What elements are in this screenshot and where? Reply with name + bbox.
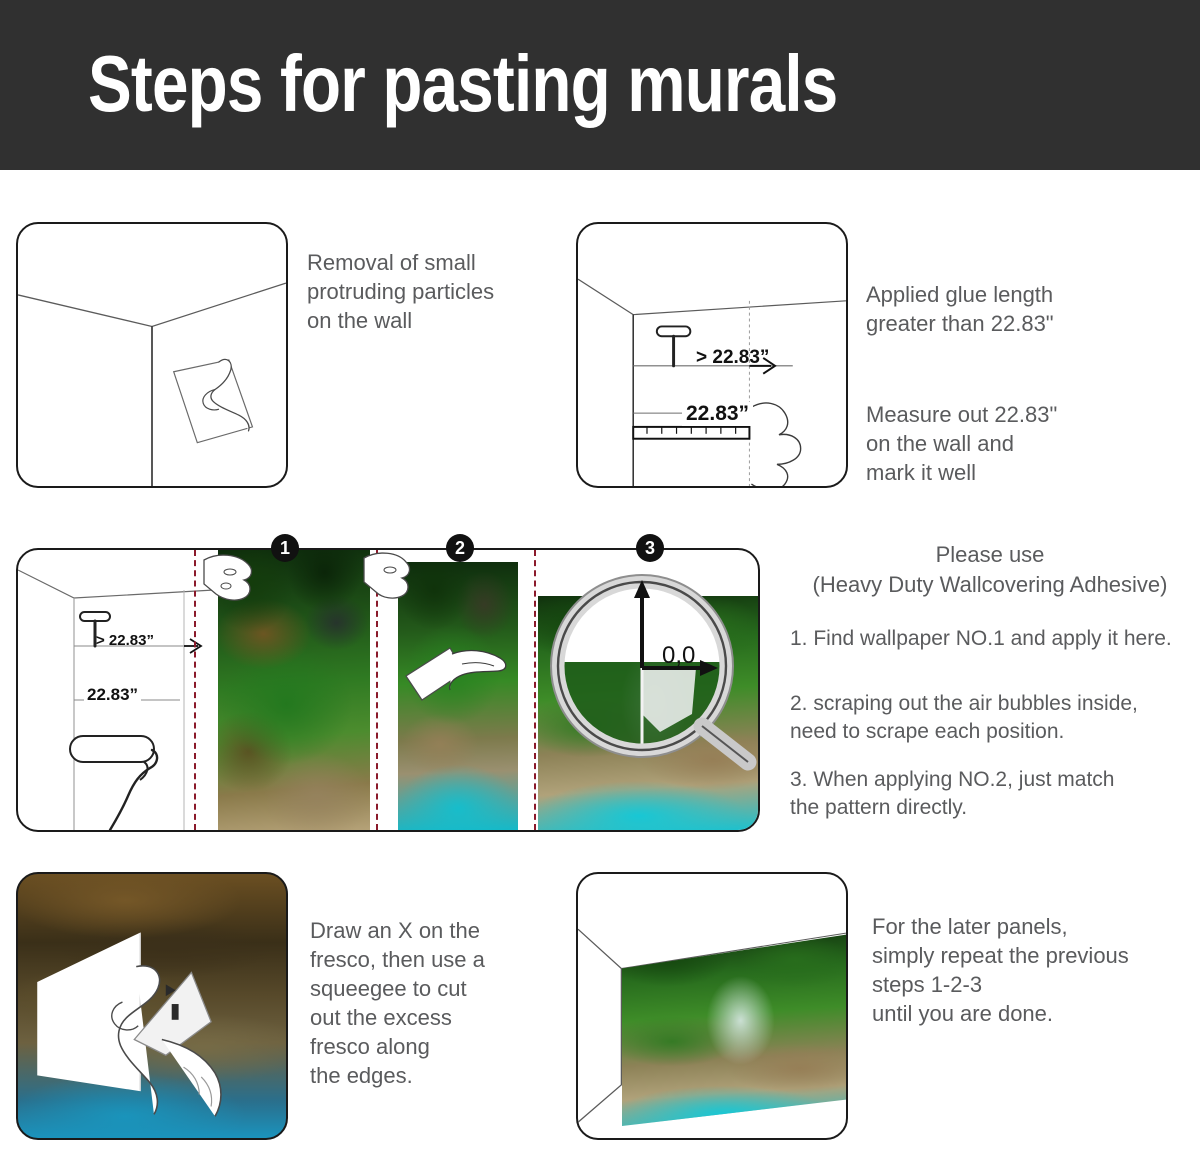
step-2-caption-glue: Applied glue length greater than 22.83" [866,280,1166,338]
adhesive-heading: Please use [790,540,1190,570]
hand-with-scraper-icon [18,224,286,486]
label-measure: 22.83” [682,402,753,426]
seam-line-1 [194,550,196,830]
instruction-item-3: 3. When applying NO.2, just match the pa… [790,766,1190,822]
step-5-caption: For the later panels, simply repeat the … [872,912,1200,1028]
instruction-item-2: 2. scraping out the air bubbles inside, … [790,690,1190,746]
label-greater-than: > 22.83” [96,632,154,649]
origin-label: 0,0 [662,642,695,670]
hand-with-squeegee-icon [18,874,286,1138]
instruction-item-1: 1. Find wallpaper NO.1 and apply it here… [790,625,1190,653]
header-bar: Steps for pasting murals [0,0,1200,170]
page-title: Steps for pasting murals [88,36,837,132]
label-measure: 22.83” [84,685,141,705]
step-1-illustration [16,222,288,488]
step-2-illustration: > 22.83” 22.83” [576,222,848,488]
label-greater-than: > 22.83” [696,347,769,369]
magnifier-icon [542,564,760,794]
badge-2: 2 [446,534,474,562]
step-4-illustration [16,872,288,1140]
step-2-caption-measure: Measure out 22.83" on the wall and mark … [866,400,1166,487]
hands-icon [200,550,260,640]
hands-icon [362,550,418,636]
step-1-caption: Removal of small protruding particles on… [307,248,557,335]
hand-with-squeegee-icon [402,642,518,712]
adhesive-subheading: (Heavy Duty Wallcovering Adhesive) [780,570,1200,600]
badge-3: 3 [636,534,664,562]
step-4-caption: Draw an X on the fresco, then use a sque… [310,916,560,1090]
step-3-composite-illustration: > 22.83” 22.83” [16,548,760,832]
badge-1: 1 [271,534,299,562]
step-5-illustration [576,872,848,1140]
seam-line-3 [534,550,536,830]
